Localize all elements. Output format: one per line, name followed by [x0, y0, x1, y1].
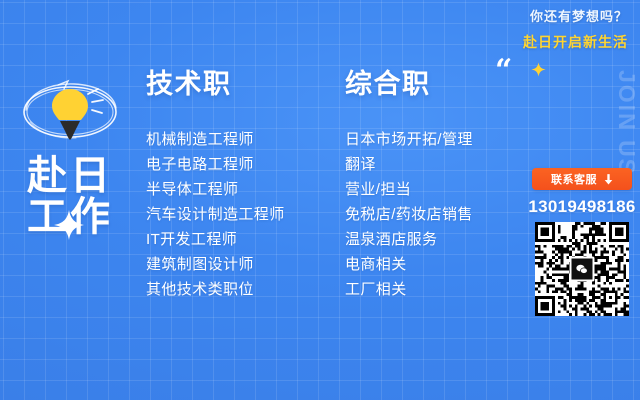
- arrow-down-icon: [604, 174, 613, 185]
- slogan-line-1: 你还有梦想吗？: [523, 6, 628, 25]
- slogan-block: 你还有梦想吗？ 赴日开启新生活: [523, 6, 628, 52]
- list-item: 工厂相关: [345, 277, 535, 302]
- list-item: 电子电路工程师: [146, 152, 331, 177]
- list-item: 翻译: [345, 152, 535, 177]
- contact-support-button[interactable]: 联系客服: [532, 168, 632, 190]
- quote-mark-icon: “: [495, 56, 510, 86]
- contact-support-label: 联系客服: [551, 171, 597, 187]
- sparkle-icon: [52, 208, 86, 242]
- qr-code-logo: [570, 257, 595, 282]
- chat-bubble-icon: [576, 263, 589, 276]
- poster-canvas: 赴日 工作 技术职 机械制造工程师 电子电路工程师 半导体工程师 汽车设计制造工…: [0, 0, 640, 400]
- brand-title-line1: 赴日: [0, 156, 140, 197]
- lightbulb-icon: [0, 70, 140, 150]
- list-item: 机械制造工程师: [146, 127, 331, 152]
- column-technical-list: 机械制造工程师 电子电路工程师 半导体工程师 汽车设计制造工程师 IT开发工程师…: [146, 127, 331, 302]
- list-item: IT开发工程师: [146, 227, 331, 252]
- list-item: 温泉酒店服务: [345, 227, 535, 252]
- list-item: 电商相关: [345, 252, 535, 277]
- column-technical: 技术职 机械制造工程师 电子电路工程师 半导体工程师 汽车设计制造工程师 IT开…: [146, 62, 331, 302]
- contact-phone-number: 13019498186: [528, 197, 636, 217]
- lightbulb-logo: [0, 70, 140, 150]
- qr-code[interactable]: [535, 222, 629, 316]
- column-general-list: 日本市场开拓/管理 翻译 营业/担当 免税店/药妆店销售 温泉酒店服务 电商相关…: [345, 127, 535, 302]
- star-sparkle-icon: [531, 62, 546, 77]
- list-item: 日本市场开拓/管理: [345, 127, 535, 152]
- contact-block: 联系客服 13019498186: [528, 168, 636, 316]
- join-us-watermark: JOIN US: [615, 70, 638, 176]
- list-item: 汽车设计制造工程师: [146, 202, 331, 227]
- list-item: 其他技术类职位: [146, 277, 331, 302]
- list-item: 营业/担当: [345, 177, 535, 202]
- column-technical-heading: 技术职: [146, 62, 331, 101]
- column-general: 综合职 日本市场开拓/管理 翻译 营业/担当 免税店/药妆店销售 温泉酒店服务 …: [345, 62, 535, 302]
- list-item: 免税店/药妆店销售: [345, 202, 535, 227]
- bulb-glass: [52, 89, 88, 120]
- slogan-line-2: 赴日开启新生活: [523, 32, 628, 52]
- list-item: 建筑制图设计师: [146, 252, 331, 277]
- list-item: 半导体工程师: [146, 177, 331, 202]
